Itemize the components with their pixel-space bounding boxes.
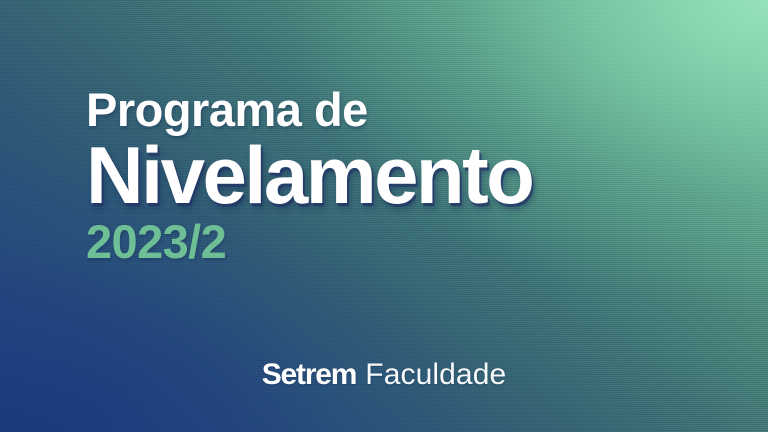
brand-name: Setrem: [262, 360, 357, 390]
brand-logo-lockup: Setrem Faculdade: [0, 360, 768, 390]
promo-poster: Programa de Nivelamento 2023/2 Setrem Fa…: [0, 0, 768, 432]
headline-kicker: Programa de: [86, 86, 726, 133]
headline-term: 2023/2: [86, 218, 726, 265]
headline-block: Programa de Nivelamento 2023/2: [86, 86, 726, 265]
brand-qualifier: Faculdade: [365, 360, 506, 390]
headline-title: Nivelamento: [86, 137, 716, 216]
